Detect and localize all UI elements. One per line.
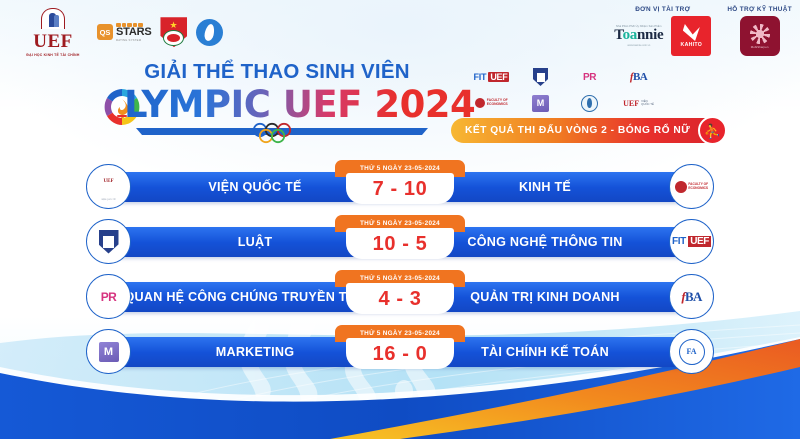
match-score: 7 - 10 <box>346 173 454 204</box>
qs-stars-logo: QS STARS RATING SYSTEM <box>97 23 151 42</box>
tech-partner-logo: MobiSharpen <box>740 16 780 56</box>
score-capsule: THỨ 5 NGÀY 23-05-2024 7 - 10 <box>335 160 465 208</box>
olympic-rings-icon <box>248 122 316 144</box>
kahito-logo: KAHITO <box>671 16 711 56</box>
poster-canvas: UEF ĐẠI HỌC KINH TẾ TÀI CHÍNH QS STARS R… <box>0 0 800 439</box>
match-score: 16 - 0 <box>346 338 454 369</box>
luat-logo <box>86 219 131 264</box>
organizer-logo-strip: UEF ĐẠI HỌC KINH TẾ TÀI CHÍNH QS STARS R… <box>18 8 223 57</box>
tech-support-group: HỖ TRỢ KỸ THUẬT MobiSharpen <box>727 6 792 56</box>
marketing-faculty-logo: M <box>519 92 562 114</box>
cong-nghe-thong-tin-logo: FIT UEF <box>669 219 714 264</box>
law-faculty-logo <box>519 66 562 88</box>
table-row[interactable]: M MARKETING THỨ 5 NGÀY 23-05-2024 16 - 0… <box>0 325 800 373</box>
uef-emblem-icon <box>38 8 68 31</box>
kinh-te-logo: FACULTY OFECONOMICS <box>669 164 714 209</box>
sponsor-section: ĐƠN VỊ TÀI TRỢ Nhà Phân Phối Ủy Nhiệm Sả… <box>614 6 792 56</box>
sponsor-heading: ĐƠN VỊ TÀI TRỢ <box>614 6 711 13</box>
tech-support-heading: HỖ TRỢ KỸ THUẬT <box>727 6 792 13</box>
table-row[interactable]: PR QUAN HỆ CÔNG CHÚNG TRUYỀN THÔNG THỨ 5… <box>0 270 800 318</box>
table-row[interactable]: UEFVIỆN QUỐC TẾ VIỆN QUỐC TẾ THỨ 5 NGÀY … <box>0 160 800 208</box>
qs-rating-note: RATING SYSTEM <box>116 39 151 42</box>
toannie-wordmark: Toannie <box>614 28 663 43</box>
youth-union-logo: ★ <box>160 17 187 47</box>
sponsor-group: ĐƠN VỊ TÀI TRỢ Nhà Phân Phối Ủy Nhiệm Sả… <box>614 6 711 56</box>
event-title: LYMPIC UEF 2024 <box>124 83 475 127</box>
pr-faculty-logo: PR <box>568 66 611 88</box>
basketball-player-icon: ⛹ <box>698 116 727 145</box>
intl-program-logo <box>568 92 611 114</box>
uef-institute-logo: UEFVIỆNQUỐC TẾ <box>617 92 660 114</box>
economics-faculty-logo: FACULTY OFECONOMICS <box>470 92 513 114</box>
toannie-url: www.toannie.com.vn <box>614 44 663 47</box>
score-capsule: THỨ 5 NGÀY 23-05-2024 16 - 0 <box>335 325 465 373</box>
quan-tri-kinh-doanh-logo: fBA <box>669 274 714 319</box>
marketing-logo: M <box>86 329 131 374</box>
starburst-icon <box>750 24 770 44</box>
score-capsule: THỨ 5 NGÀY 23-05-2024 4 - 3 <box>335 270 465 318</box>
toannie-logo: Nhà Phân Phối Ủy Nhiệm Sản Phẩm Toannie … <box>614 25 663 47</box>
uef-wordmark: UEF <box>18 32 88 51</box>
score-capsule: THỨ 5 NGÀY 23-05-2024 10 - 5 <box>335 215 465 263</box>
uef-tagline: ĐẠI HỌC KINH TẾ TÀI CHÍNH <box>18 53 88 57</box>
result-banner-text: KẾT QUẢ THI ĐẤU VÒNG 2 - BÓNG RỔ NỮ <box>465 125 690 136</box>
uef-university-logo: UEF ĐẠI HỌC KINH TẾ TÀI CHÍNH <box>18 8 88 57</box>
quan-he-cong-chung-logo: PR <box>86 274 131 319</box>
match-score: 10 - 5 <box>346 228 454 259</box>
vien-quoc-te-logo: UEFVIỆN QUỐC TẾ <box>86 164 131 209</box>
match-score: 4 - 3 <box>346 283 454 314</box>
kahito-bird-icon <box>683 24 700 41</box>
fba-faculty-logo: fBA <box>617 66 660 88</box>
match-results-list: UEFVIỆN QUỐC TẾ VIỆN QUỐC TẾ THỨ 5 NGÀY … <box>0 160 800 380</box>
result-banner: KẾT QUẢ THI ĐẤU VÒNG 2 - BÓNG RỔ NỮ ⛹ <box>451 118 724 143</box>
fit-uef-logo: FIT UEF <box>470 66 513 88</box>
student-association-logo <box>196 19 223 46</box>
table-row[interactable]: LUẬT THỨ 5 NGÀY 23-05-2024 10 - 5 CÔNG N… <box>0 215 800 263</box>
event-subtitle: GIẢI THỂ THAO SINH VIÊN <box>118 62 436 83</box>
event-title-block: GIẢI THỂ THAO SINH VIÊN LYMPIC UEF 2024 <box>96 62 436 128</box>
tech-partner-label: MobiSharpen <box>751 45 769 49</box>
qs-stars-word: STARS <box>116 27 151 38</box>
kahito-label: KAHITO <box>681 42 703 48</box>
faculty-logo-grid: FIT UEF PR fBA FACULTY OFECONOMICS M UEF… <box>470 66 660 114</box>
tai-chinh-ke-toan-logo: FA <box>669 329 714 374</box>
qs-letters: QS <box>97 24 113 40</box>
